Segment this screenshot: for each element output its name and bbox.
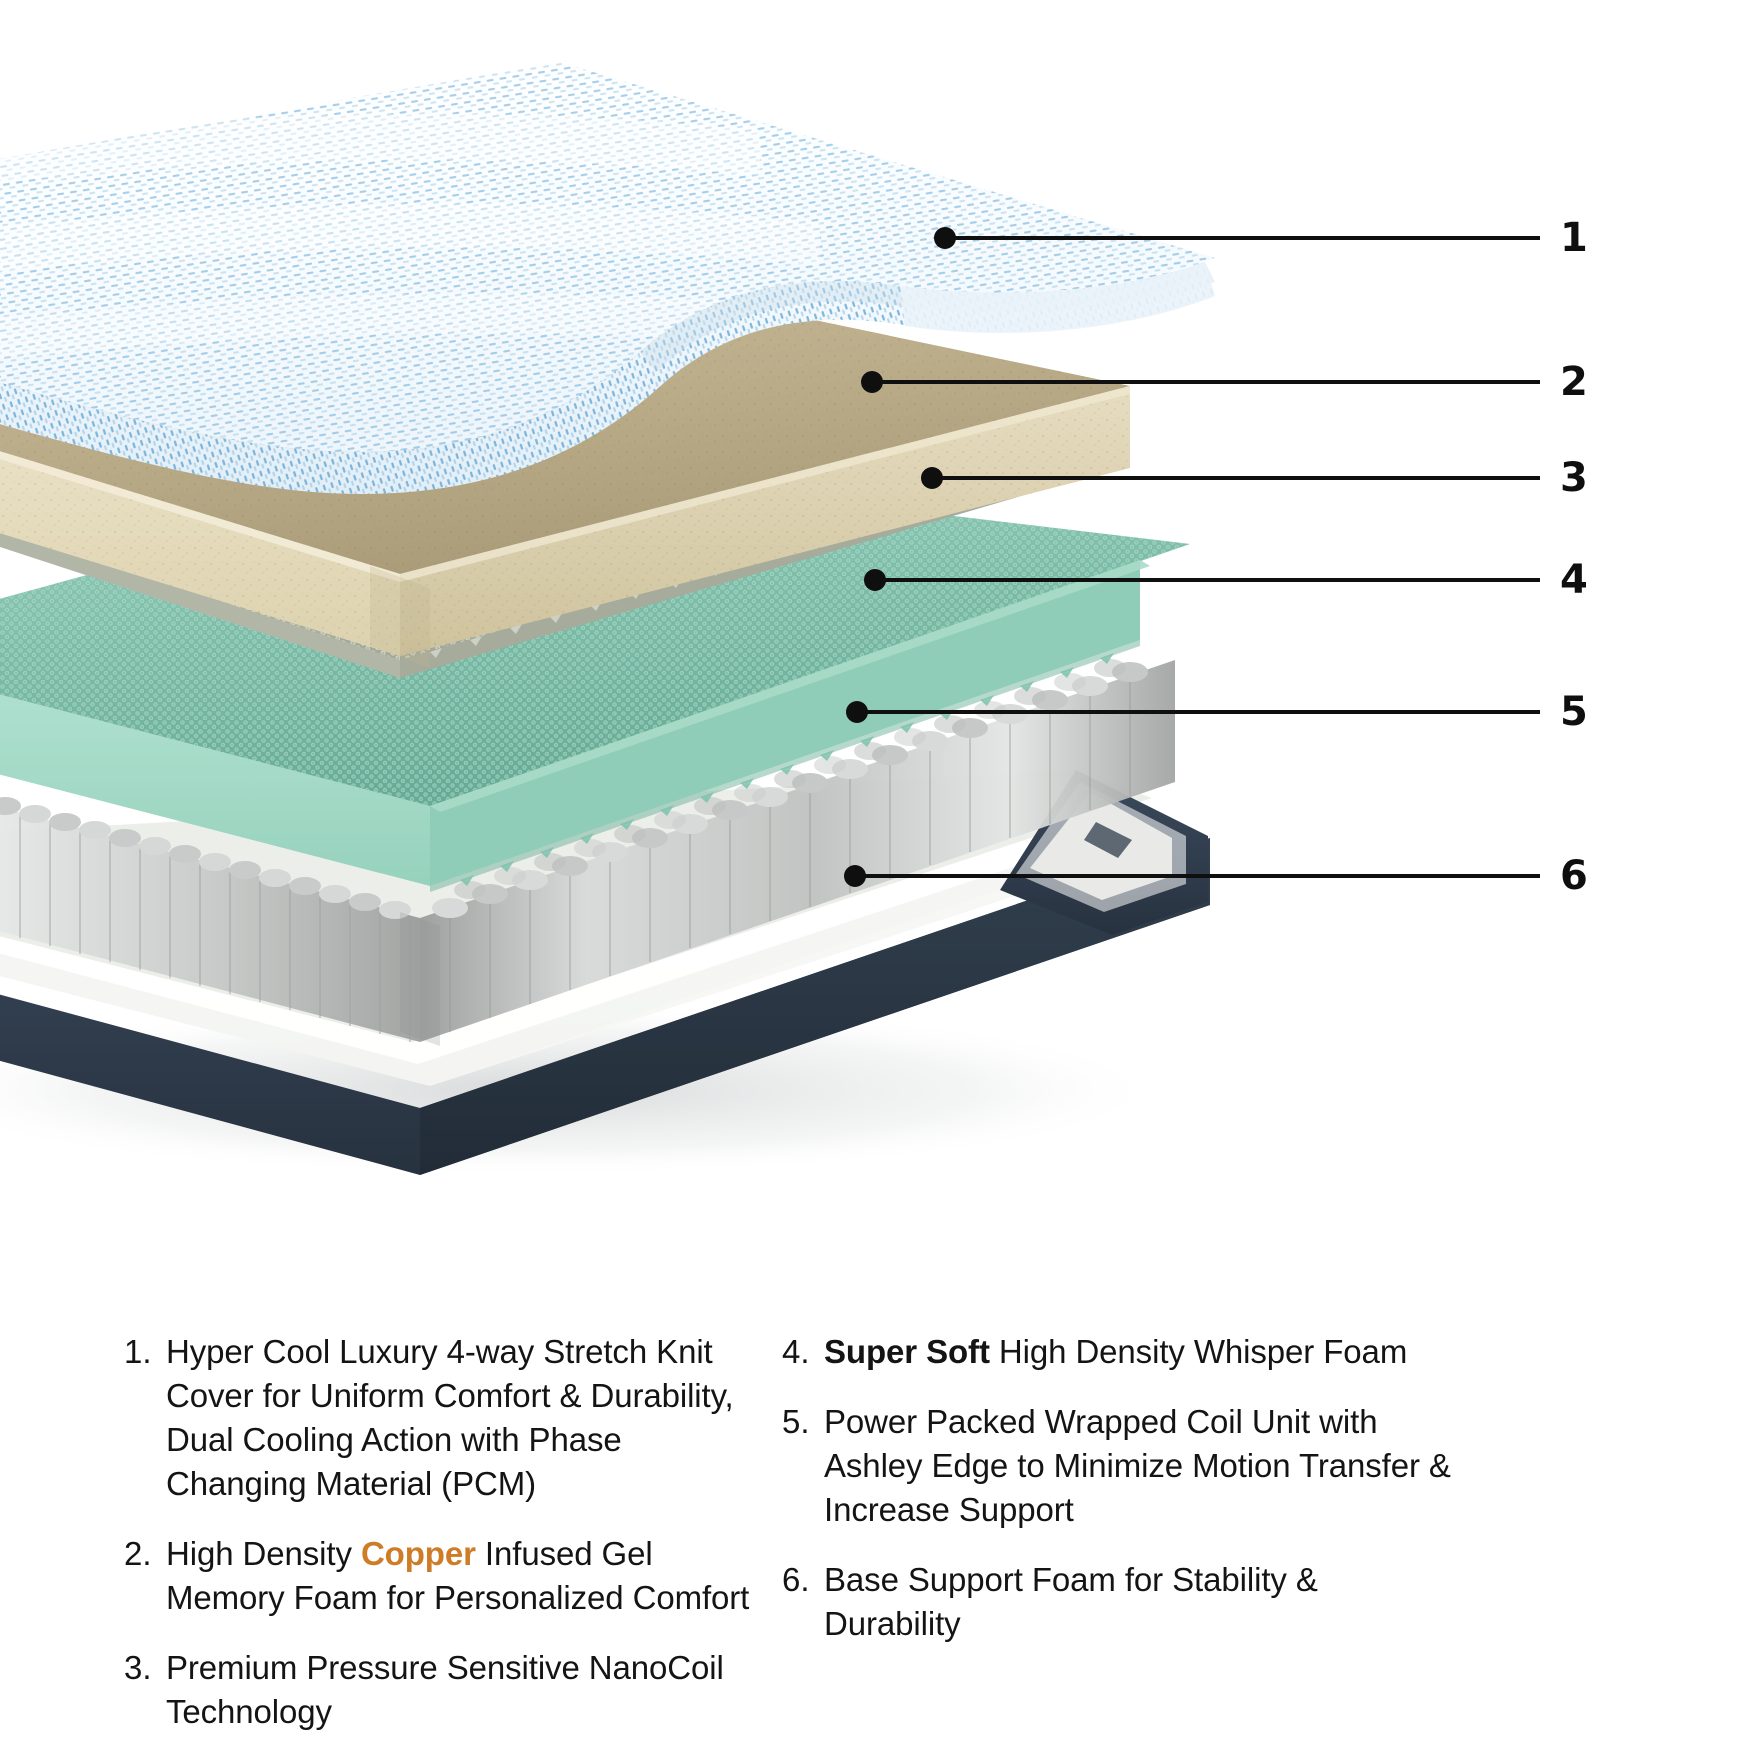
legend-item-text: High Density Copper Infused Gel Memory F… — [166, 1532, 764, 1620]
legend-item-text: Super Soft High Density Whisper Foam — [824, 1330, 1462, 1374]
legend-item-index: 3. — [124, 1646, 166, 1690]
legend-item-index: 2. — [124, 1532, 166, 1576]
legend-text-part: Hyper Cool Luxury 4-way Stretch Knit Cov… — [166, 1333, 734, 1502]
legend-item-text: Premium Pressure Sensitive NanoCoil Tech… — [166, 1646, 764, 1734]
callout-number-1: 1 — [1560, 218, 1588, 258]
callout-number-2: 2 — [1560, 362, 1588, 402]
legend-item: 3.Premium Pressure Sensitive NanoCoil Te… — [124, 1646, 764, 1734]
callout-number-4: 4 — [1560, 560, 1588, 600]
legend-item-index: 1. — [124, 1330, 166, 1374]
legend-text-part: Base Support Foam for Stability & Durabi… — [824, 1561, 1318, 1642]
legend-text-part: High Density Whisper Foam — [990, 1333, 1407, 1370]
callout-number-3: 3 — [1560, 458, 1588, 498]
legend-item: 4.Super Soft High Density Whisper Foam — [782, 1330, 1462, 1374]
legend-text-part: Super Soft — [824, 1333, 990, 1370]
legend-item-text: Base Support Foam for Stability & Durabi… — [824, 1558, 1462, 1646]
legend-text-part: Power Packed Wrapped Coil Unit with Ashl… — [824, 1403, 1451, 1528]
callout-number-6: 6 — [1560, 856, 1588, 896]
legend-text-part: High Density — [166, 1535, 361, 1572]
mattress-layers-diagram: 1 2 3 4 5 6 1.Hyper Cool Luxury 4-way St… — [0, 0, 1750, 1750]
legend-column-left: 1.Hyper Cool Luxury 4-way Stretch Knit C… — [124, 1330, 764, 1760]
mattress-cutaway-illustration — [0, 0, 1750, 1180]
feature-legend: 1.Hyper Cool Luxury 4-way Stretch Knit C… — [0, 1330, 1750, 1750]
legend-text-part: Premium Pressure Sensitive NanoCoil Tech… — [166, 1649, 724, 1730]
legend-item: 6.Base Support Foam for Stability & Dura… — [782, 1558, 1462, 1646]
legend-item-text: Hyper Cool Luxury 4-way Stretch Knit Cov… — [166, 1330, 764, 1506]
legend-item-text: Power Packed Wrapped Coil Unit with Ashl… — [824, 1400, 1462, 1532]
legend-item-index: 6. — [782, 1558, 824, 1602]
legend-text-part: Copper — [361, 1535, 476, 1572]
legend-item-index: 5. — [782, 1400, 824, 1444]
legend-item: 5.Power Packed Wrapped Coil Unit with As… — [782, 1400, 1462, 1532]
callout-number-5: 5 — [1560, 692, 1588, 732]
legend-column-right: 4.Super Soft High Density Whisper Foam5.… — [782, 1330, 1462, 1672]
legend-item: 2.High Density Copper Infused Gel Memory… — [124, 1532, 764, 1620]
legend-item: 1.Hyper Cool Luxury 4-way Stretch Knit C… — [124, 1330, 764, 1506]
legend-item-index: 4. — [782, 1330, 824, 1374]
